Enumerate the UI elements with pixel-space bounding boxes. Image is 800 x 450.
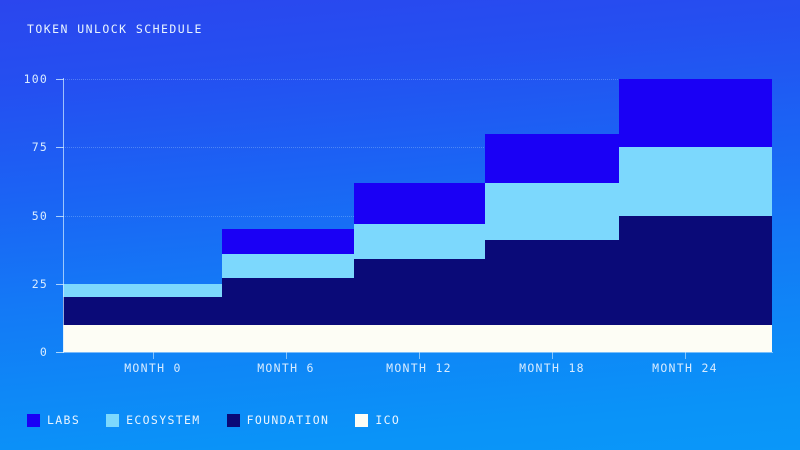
y-tick-75	[56, 147, 64, 148]
band-ico-4	[619, 325, 772, 352]
band-foundation-1	[222, 278, 354, 324]
y-tick-label-50: 50	[32, 209, 48, 223]
x-axis-line	[63, 352, 773, 353]
x-tick-1	[286, 352, 287, 359]
y-tick-label-0: 0	[40, 345, 48, 359]
band-labs-1	[222, 229, 354, 254]
x-tick-4	[685, 352, 686, 359]
legend-swatch-icon	[227, 414, 240, 427]
band-foundation-2	[354, 259, 485, 325]
band-foundation-4	[619, 216, 772, 325]
x-tick-2	[419, 352, 420, 359]
y-tick-label-100: 100	[24, 72, 48, 86]
x-tick-label-3: MONTH 18	[519, 361, 585, 375]
band-ico-2	[354, 325, 485, 352]
band-ecosystem-4	[619, 147, 772, 215]
x-tick-3	[552, 352, 553, 359]
legend-label: ICO	[375, 413, 400, 427]
x-tick-label-2: MONTH 12	[386, 361, 452, 375]
band-labs-2	[354, 183, 485, 224]
legend-item-labs[interactable]: LABS	[27, 413, 80, 427]
band-ico-0	[63, 325, 222, 352]
page-title: TOKEN UNLOCK SCHEDULE	[27, 22, 203, 36]
band-ecosystem-0	[63, 284, 222, 298]
legend-label: LABS	[47, 413, 80, 427]
legend-label: ECOSYSTEM	[126, 413, 200, 427]
band-ecosystem-2	[354, 224, 485, 259]
band-ecosystem-1	[222, 254, 354, 279]
y-tick-label-25: 25	[32, 277, 48, 291]
legend: LABSECOSYSTEMFOUNDATIONICO	[27, 413, 400, 427]
band-ico-3	[485, 325, 619, 352]
x-tick-label-1: MONTH 6	[257, 361, 315, 375]
y-tick-25	[56, 284, 64, 285]
band-ecosystem-3	[485, 183, 619, 240]
y-tick-50	[56, 216, 64, 217]
legend-swatch-icon	[355, 414, 368, 427]
band-foundation-0	[63, 297, 222, 324]
band-foundation-3	[485, 240, 619, 325]
y-tick-0	[56, 352, 64, 353]
y-tick-100	[56, 79, 64, 80]
band-labs-4	[619, 79, 772, 147]
legend-swatch-icon	[27, 414, 40, 427]
legend-item-ecosystem[interactable]: ECOSYSTEM	[106, 413, 200, 427]
x-tick-label-0: MONTH 0	[124, 361, 182, 375]
legend-item-ico[interactable]: ICO	[355, 413, 400, 427]
band-labs-3	[485, 134, 619, 183]
y-tick-label-75: 75	[32, 140, 48, 154]
chart-canvas: TOKEN UNLOCK SCHEDULE 0255075100 MONTH 0…	[0, 0, 800, 450]
legend-label: FOUNDATION	[247, 413, 330, 427]
legend-item-foundation[interactable]: FOUNDATION	[227, 413, 330, 427]
x-tick-label-4: MONTH 24	[652, 361, 718, 375]
x-tick-0	[153, 352, 154, 359]
legend-swatch-icon	[106, 414, 119, 427]
band-ico-1	[222, 325, 354, 352]
